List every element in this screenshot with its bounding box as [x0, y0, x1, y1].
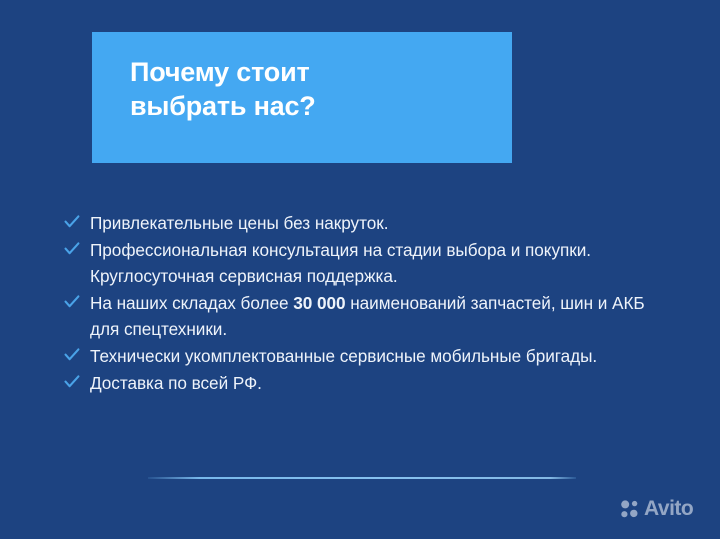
check-icon — [64, 293, 80, 311]
check-icon — [64, 213, 80, 231]
check-icon — [64, 373, 80, 391]
list-item-highlight-value: 30 000 — [293, 293, 345, 313]
list-item-label: Технически укомплектованные сервисные мо… — [90, 343, 662, 369]
check-icon — [64, 346, 80, 364]
list-item-label: Профессиональная консультация на стадии … — [90, 237, 662, 289]
list-item: Доставка по всей РФ. — [62, 370, 662, 396]
list-item: Профессиональная консультация на стадии … — [62, 237, 662, 289]
list-item: На наших складах более 30 000 наименован… — [62, 290, 662, 342]
avito-wordmark-label: Avito — [644, 498, 693, 519]
divider — [148, 477, 576, 479]
avito-watermark: Avito — [620, 498, 693, 519]
list-item: Технически укомплектованные сервисные мо… — [62, 343, 662, 369]
list-item-label: Привлекательные цены без накруток. — [90, 210, 662, 236]
list-item-text-before: На наших складах более — [90, 293, 293, 313]
check-icon — [64, 240, 80, 258]
list-item-label: Доставка по всей РФ. — [90, 370, 662, 396]
page-title: Почему стоит выбрать нас? — [130, 55, 490, 123]
list-item-label: На наших складах более 30 000 наименован… — [90, 290, 662, 342]
avito-circles-icon — [620, 499, 640, 519]
list-item: Привлекательные цены без накруток. — [62, 210, 662, 236]
slide-canvas: Почему стоит выбрать нас? Привлекательны… — [0, 0, 720, 539]
benefits-list: Привлекательные цены без накруток. Профе… — [62, 210, 662, 397]
title-box: Почему стоит выбрать нас? — [92, 32, 512, 163]
